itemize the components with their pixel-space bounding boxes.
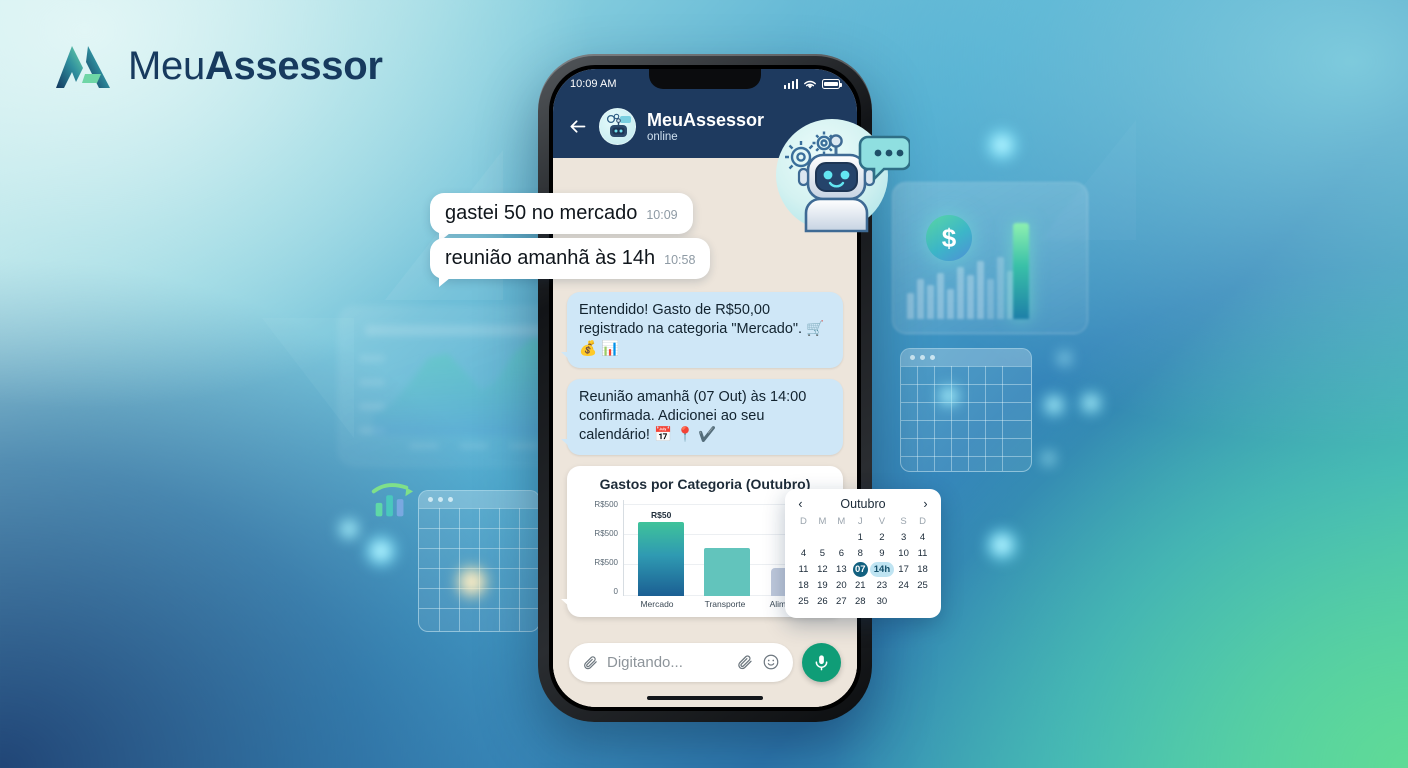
spreadsheet-window-icon xyxy=(418,490,540,632)
calendar-day[interactable]: 21 xyxy=(851,578,870,593)
avatar[interactable] xyxy=(599,108,636,145)
user-message-bubble: reunião amanhã às 14h 10:58 xyxy=(430,238,710,279)
calendar-day[interactable]: 11 xyxy=(794,562,813,577)
paperclip-icon[interactable] xyxy=(582,654,599,671)
calendar-month-label: Outubro xyxy=(840,497,885,511)
chat-status: online xyxy=(647,131,764,143)
user-message-time: 10:58 xyxy=(664,253,695,267)
meuassessor-m-logo-icon xyxy=(52,38,114,94)
calendar-day-selected[interactable]: 07 xyxy=(851,562,870,577)
message-input-field[interactable]: Digitando... xyxy=(569,643,793,682)
calendar-day[interactable]: 26 xyxy=(813,594,832,609)
brand-logo[interactable]: MeuAssessor xyxy=(52,38,383,94)
calendar-day[interactable]: 25 xyxy=(913,578,932,593)
calendar-day[interactable]: 3 xyxy=(894,530,913,545)
calendar-weekday: M xyxy=(813,516,832,529)
y-tick-label: R$500 xyxy=(594,529,618,538)
back-arrow-icon[interactable] xyxy=(567,116,588,137)
calendar-day[interactable]: 2 xyxy=(870,530,894,545)
battery-icon xyxy=(822,79,840,89)
chart-y-axis: R$500 R$500 R$500 0 xyxy=(579,500,623,596)
bot-avatar-icon xyxy=(600,109,636,145)
calendar-weekday: J xyxy=(851,516,870,529)
calendar-weekday: V xyxy=(870,516,894,529)
calendar-day[interactable]: 28 xyxy=(851,594,870,609)
calendar-day[interactable] xyxy=(813,530,832,545)
bar-column-mercado: R$50 xyxy=(635,500,687,596)
wifi-icon xyxy=(803,79,817,90)
x-tick-label: Transporte xyxy=(693,599,757,609)
calendar-day-selected-label: 07 xyxy=(853,562,868,577)
calendar-event-chip[interactable]: 14h xyxy=(870,562,894,577)
money-badge-icon: $ xyxy=(926,215,972,261)
calendar-header: ‹ Outubro › xyxy=(794,497,932,511)
chevron-left-icon[interactable]: ‹ xyxy=(794,497,807,511)
home-indicator xyxy=(647,696,763,701)
y-tick-label: R$500 xyxy=(594,558,618,567)
calendar-day[interactable]: 20 xyxy=(832,578,851,593)
calendar-event-chip-label: 14h xyxy=(870,562,894,577)
y-tick-label: 0 xyxy=(614,587,618,596)
calendar-weekday: D xyxy=(794,516,813,529)
calendar-day[interactable]: 10 xyxy=(894,546,913,561)
calendar-day[interactable]: 9 xyxy=(870,546,894,561)
paperclip-icon[interactable] xyxy=(736,653,754,671)
user-message-bubble: gastei 50 no mercado 10:09 xyxy=(430,193,693,234)
calendar-day[interactable]: 6 xyxy=(832,546,851,561)
calendar-popup[interactable]: ‹ Outubro › D M M J V S D 1 2 3 4 4 5 6 … xyxy=(785,489,941,618)
brand-name-light: Meu xyxy=(128,44,205,88)
spreadsheet-window-icon xyxy=(900,348,1032,472)
bar-value-label: R$50 xyxy=(651,510,671,520)
user-message-time: 10:09 xyxy=(646,208,677,222)
calendar-day[interactable] xyxy=(832,530,851,545)
calendar-day[interactable] xyxy=(894,594,913,609)
decor-area-chart-panel xyxy=(338,306,568,466)
decor-bar-panel xyxy=(892,182,1088,334)
bot-message-bubble: Entendido! Gasto de R$50,00 registrado n… xyxy=(567,292,843,368)
status-bar-time: 10:09 AM xyxy=(570,78,616,90)
robot-mascot xyxy=(768,117,910,235)
chat-title: MeuAssessor xyxy=(647,110,764,130)
user-message-text: reunião amanhã às 14h xyxy=(445,247,655,270)
chevron-right-icon[interactable]: › xyxy=(919,497,932,511)
smiley-icon[interactable] xyxy=(762,653,780,671)
calendar-day[interactable]: 27 xyxy=(832,594,851,609)
calendar-day[interactable]: 12 xyxy=(813,562,832,577)
calendar-day[interactable]: 11 xyxy=(913,546,932,561)
brand-name: MeuAssessor xyxy=(128,44,383,89)
calendar-day[interactable]: 23 xyxy=(870,578,894,593)
phone-reflection xyxy=(538,724,872,768)
bar-column-transporte xyxy=(701,500,753,596)
calendar-day[interactable]: 5 xyxy=(813,546,832,561)
calendar-day[interactable]: 30 xyxy=(870,594,894,609)
calendar-day[interactable] xyxy=(794,530,813,545)
calendar-day[interactable]: 13 xyxy=(832,562,851,577)
calendar-weekday: M xyxy=(832,516,851,529)
voice-record-button[interactable] xyxy=(802,643,841,682)
calendar-day[interactable]: 24 xyxy=(894,578,913,593)
calendar-weekday: S xyxy=(894,516,913,529)
calendar-day[interactable]: 17 xyxy=(894,562,913,577)
y-tick-label: R$500 xyxy=(594,500,618,509)
calendar-weekday: D xyxy=(913,516,932,529)
calendar-grid[interactable]: D M M J V S D 1 2 3 4 4 5 6 8 9 10 11 11… xyxy=(794,516,932,609)
brand-name-bold: Assessor xyxy=(205,44,383,88)
bar-chart-growth-icon xyxy=(368,478,414,524)
calendar-day[interactable]: 19 xyxy=(813,578,832,593)
user-message-text: gastei 50 no mercado xyxy=(445,202,637,225)
signal-bars-icon xyxy=(784,79,799,89)
microphone-icon xyxy=(812,653,831,672)
calendar-day[interactable]: 1 xyxy=(851,530,870,545)
bot-message-bubble: Reunião amanhã (07 Out) às 14:00 confirm… xyxy=(567,379,843,455)
phone-notch xyxy=(649,69,761,89)
x-tick-label: Mercado xyxy=(625,599,689,609)
calendar-day[interactable]: 18 xyxy=(913,562,932,577)
calendar-day[interactable]: 18 xyxy=(794,578,813,593)
calendar-day[interactable] xyxy=(913,594,932,609)
calendar-day[interactable]: 4 xyxy=(794,546,813,561)
message-input-placeholder: Digitando... xyxy=(607,654,728,671)
calendar-day[interactable]: 25 xyxy=(794,594,813,609)
calendar-day[interactable]: 4 xyxy=(913,530,932,545)
robot-mascot-icon xyxy=(768,117,910,235)
calendar-day[interactable]: 8 xyxy=(851,546,870,561)
